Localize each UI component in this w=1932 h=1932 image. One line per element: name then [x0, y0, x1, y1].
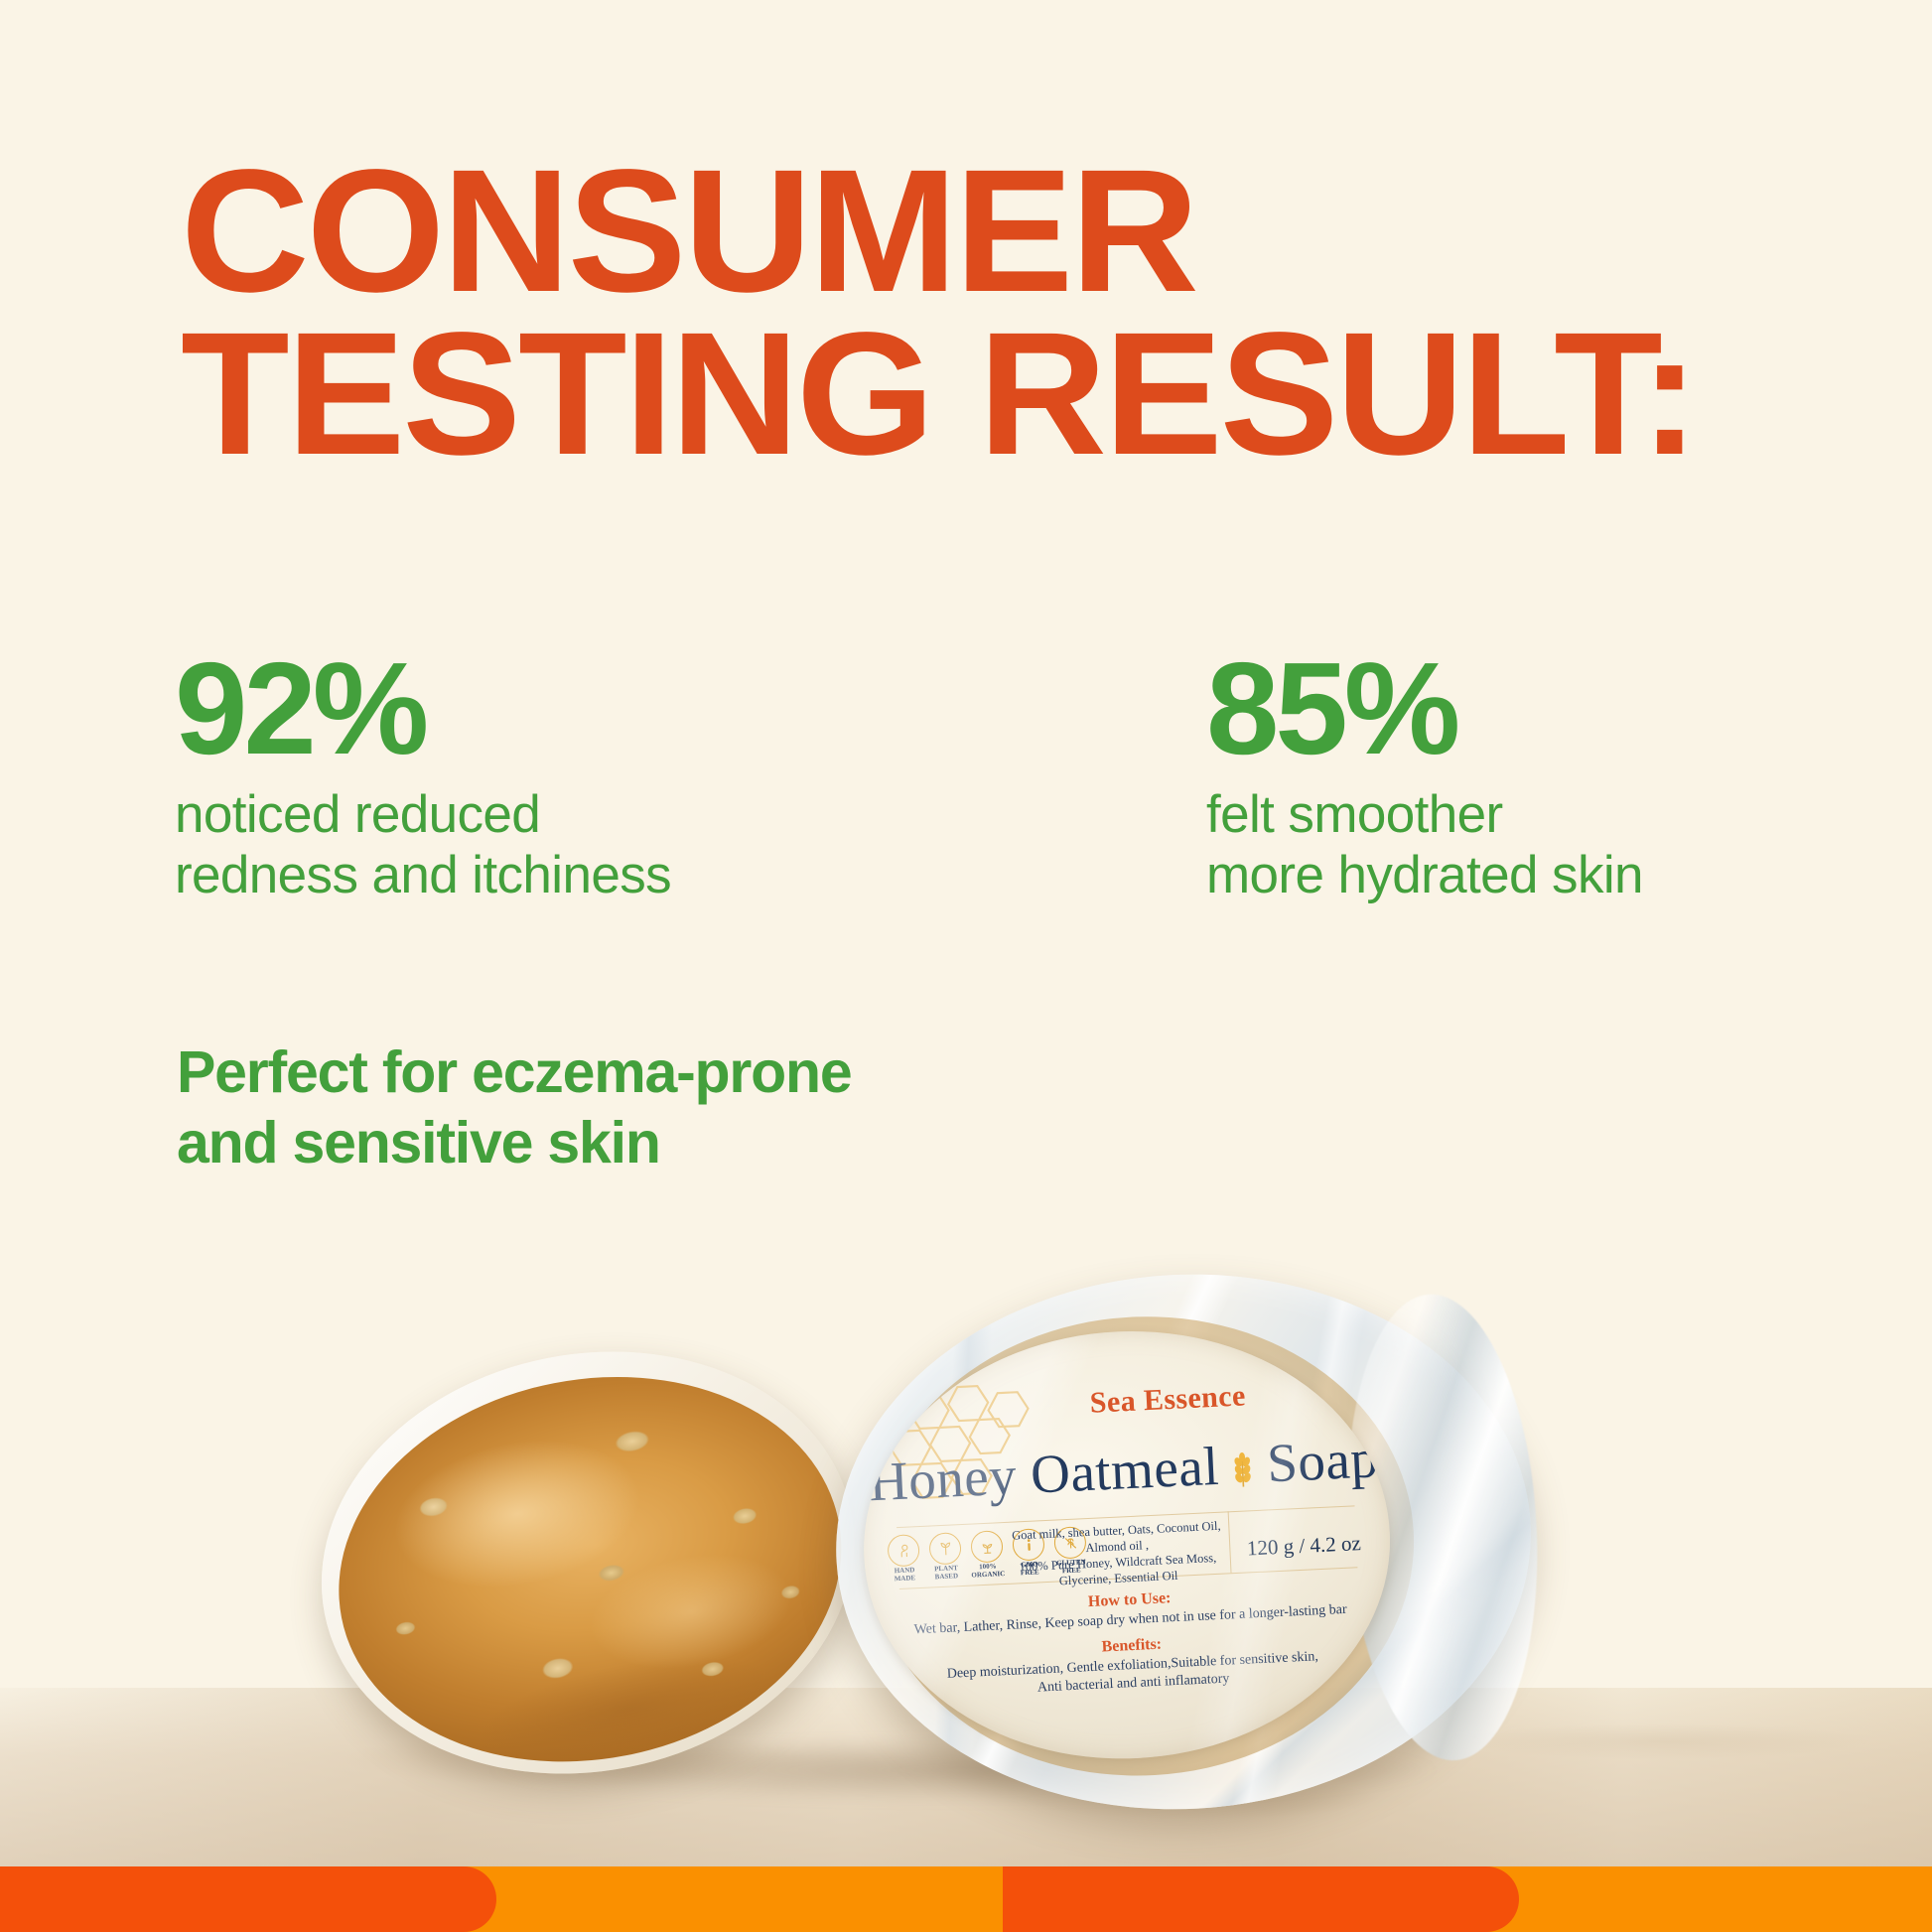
badge-100-organic-line-2: ORGANIC: [970, 1571, 1006, 1580]
badge-100-organic: 100% ORGANIC: [968, 1530, 1006, 1580]
badge-100-organic-label: 100% ORGANIC: [970, 1563, 1007, 1580]
tagline-line-2: and sensitive skin: [177, 1108, 1170, 1178]
bar-segment-2: [1003, 1866, 1519, 1932]
label-divider-vertical: [1228, 1511, 1232, 1573]
page-title: CONSUMER TESTING RESULT:: [181, 151, 1862, 476]
headline-line-1: CONSUMER: [181, 151, 1862, 314]
stat-caption-85-line-2: more hydrated skin: [1206, 845, 1932, 905]
badge-hand-made-label: HAND MADE: [887, 1567, 923, 1584]
tagline: Perfect for eczema-prone and sensitive s…: [177, 1037, 1170, 1178]
stat-block-reduced-redness: 92% noticed reduced redness and itchines…: [175, 643, 929, 906]
badge-hand-made-line-2: MADE: [887, 1574, 922, 1583]
label-net-weight: 120 g / 4.2 oz: [1239, 1531, 1369, 1562]
stat-caption-92: noticed reduced redness and itchiness: [175, 784, 929, 906]
label-title-part-2: Soap: [1266, 1428, 1380, 1493]
stat-value-92: 92%: [175, 643, 929, 774]
stat-caption-85: felt smoother more hydrated skin: [1206, 784, 1932, 906]
stat-caption-92-line-1: noticed reduced: [175, 784, 929, 845]
stat-caption-85-line-1: felt smoother: [1206, 784, 1932, 845]
badge-plant-based-label: PLANT BASED: [928, 1565, 965, 1582]
label-ingredients: Goat milk, shea butter, Oats, Coconut Oi…: [1008, 1518, 1227, 1591]
badge-plant-based-line-2: BASED: [928, 1572, 964, 1581]
bar-segment-1: [0, 1866, 496, 1932]
wheat-sprig-icon: [1228, 1450, 1256, 1491]
product-photo-stage: Sea Essence Honey Oatmeal Soap: [0, 1231, 1932, 1866]
soap-bar-honey-face: [306, 1335, 876, 1804]
wrapped-soap-bar: Sea Essence Honey Oatmeal Soap: [822, 1256, 1546, 1828]
sprout-icon: [970, 1530, 1003, 1563]
hand-icon: [887, 1534, 919, 1567]
leaf-icon: [928, 1532, 961, 1565]
badge-hand-made: HAND MADE: [885, 1534, 922, 1584]
badge-plant-based: PLANT BASED: [926, 1532, 964, 1582]
stat-caption-92-line-2: redness and itchiness: [175, 845, 929, 905]
stat-value-85: 85%: [1206, 643, 1932, 774]
headline-line-2: TESTING RESULT:: [181, 314, 1862, 477]
poster-canvas: CONSUMER TESTING RESULT: 92% noticed red…: [0, 0, 1932, 1932]
stat-block-smoother-skin: 85% felt smoother more hydrated skin: [1206, 643, 1932, 906]
bottom-accent-bar: [0, 1866, 1932, 1932]
statistics-section: 92% noticed reduced redness and itchines…: [0, 643, 1932, 971]
tagline-line-1: Perfect for eczema-prone: [177, 1037, 1170, 1108]
